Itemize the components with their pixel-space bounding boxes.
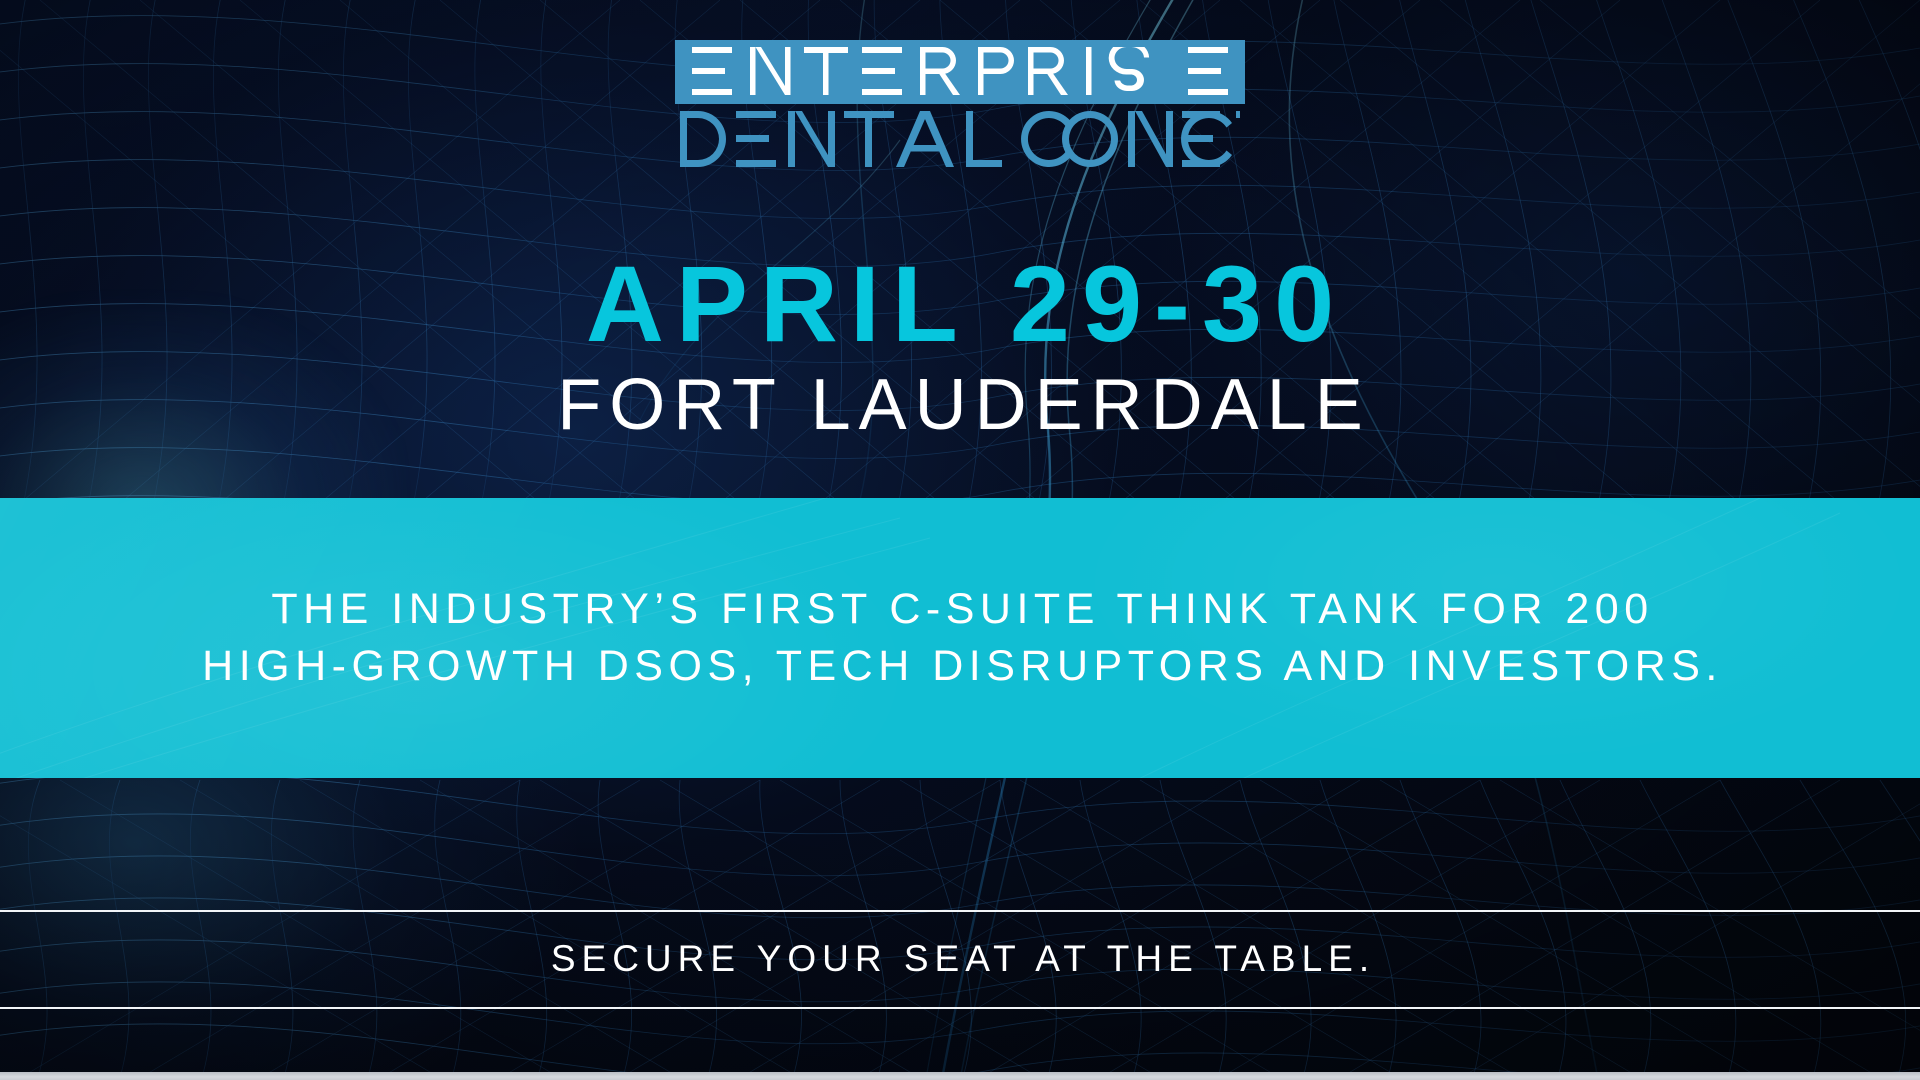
event-date-location: APRIL 29-30 FORT LAUDERDALE — [0, 250, 1920, 444]
logo-dental-connect — [680, 111, 1240, 167]
event-promo-banner: ENTERPRISE — [0, 0, 1920, 1080]
tagline-line-2: HIGH-GROWTH DSOS, TECH DISRUPTORS AND IN… — [197, 638, 1723, 695]
tagline-band: THE INDUSTRY’S FIRST C-SUITE THINK TANK … — [0, 498, 1920, 778]
bottom-edge-strip — [0, 1072, 1920, 1080]
cta-rule-bottom — [0, 1007, 1920, 1009]
logo-enterprise-band: ENTERPRISE — [675, 40, 1245, 104]
cta-text[interactable]: SECURE YOUR SEAT AT THE TABLE. — [545, 938, 1375, 980]
brand-logo: ENTERPRISE — [0, 40, 1920, 167]
cta-section[interactable]: SECURE YOUR SEAT AT THE TABLE. — [0, 910, 1920, 1007]
event-dates: APRIL 29-30 — [574, 250, 1346, 358]
event-city: FORT LAUDERDALE — [549, 368, 1371, 444]
tagline-line-1: THE INDUSTRY’S FIRST C-SUITE THINK TANK … — [266, 581, 1653, 638]
